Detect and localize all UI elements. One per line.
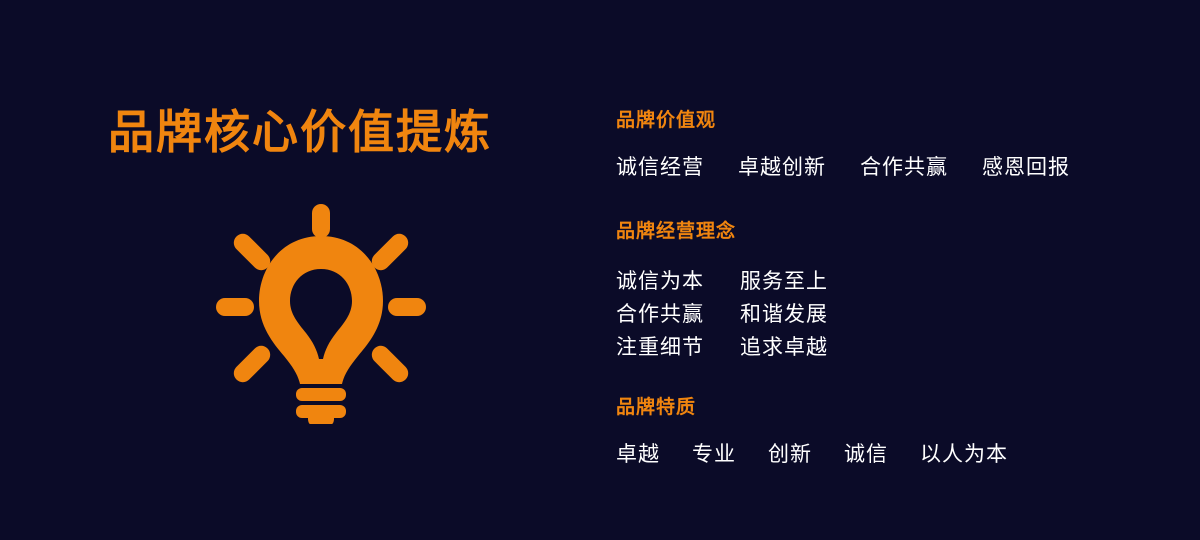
section-heading: 品牌经营理念: [616, 221, 1176, 244]
lightbulb-icon: [216, 202, 426, 424]
slide-root: 品牌核心价值提炼: [0, 0, 1200, 540]
list-item: 诚信: [844, 442, 888, 468]
pair-cell-left: 注重细节: [616, 331, 740, 364]
list-item: 合作共赢: [860, 155, 948, 181]
pair-cell-right: 追求卓越: [740, 331, 828, 364]
list-item: 卓越: [616, 442, 660, 468]
list-item: 诚信为本 服务至上: [616, 265, 1176, 298]
list-item: 专业: [692, 442, 736, 468]
value-list: 诚信经营 卓越创新 合作共赢 感恩回报: [616, 155, 1176, 181]
right-panel: 品牌价值观 诚信经营 卓越创新 合作共赢 感恩回报 品牌经营理念 诚信为本 服务…: [616, 0, 1176, 540]
list-item: 注重细节 追求卓越: [616, 331, 1176, 364]
section-heading: 品牌特质: [616, 397, 1176, 420]
section-brand-traits: 品牌特质 卓越 专业 创新 诚信 以人为本: [616, 397, 1176, 468]
traits-list: 卓越 专业 创新 诚信 以人为本: [616, 442, 1176, 468]
section-heading: 品牌价值观: [616, 110, 1176, 133]
list-item: 合作共赢 和谐发展: [616, 298, 1176, 331]
philosophy-list: 诚信为本 服务至上 合作共赢 和谐发展 注重细节 追求卓越: [616, 265, 1176, 364]
list-item: 以人为本: [920, 442, 1008, 468]
pair-cell-right: 和谐发展: [740, 298, 828, 331]
pair-cell-right: 服务至上: [740, 265, 828, 298]
pair-cell-left: 合作共赢: [616, 298, 740, 331]
page-title: 品牌核心价值提炼: [0, 106, 600, 159]
list-item: 卓越创新: [738, 155, 826, 181]
section-business-philosophy: 品牌经营理念 诚信为本 服务至上 合作共赢 和谐发展 注重细节 追求卓越: [616, 221, 1176, 364]
pair-cell-left: 诚信为本: [616, 265, 740, 298]
list-item: 诚信经营: [616, 155, 704, 181]
section-brand-values: 品牌价值观 诚信经营 卓越创新 合作共赢 感恩回报: [616, 110, 1176, 181]
list-item: 创新: [768, 442, 812, 468]
list-item: 感恩回报: [982, 155, 1070, 181]
left-panel: 品牌核心价值提炼: [0, 0, 600, 540]
